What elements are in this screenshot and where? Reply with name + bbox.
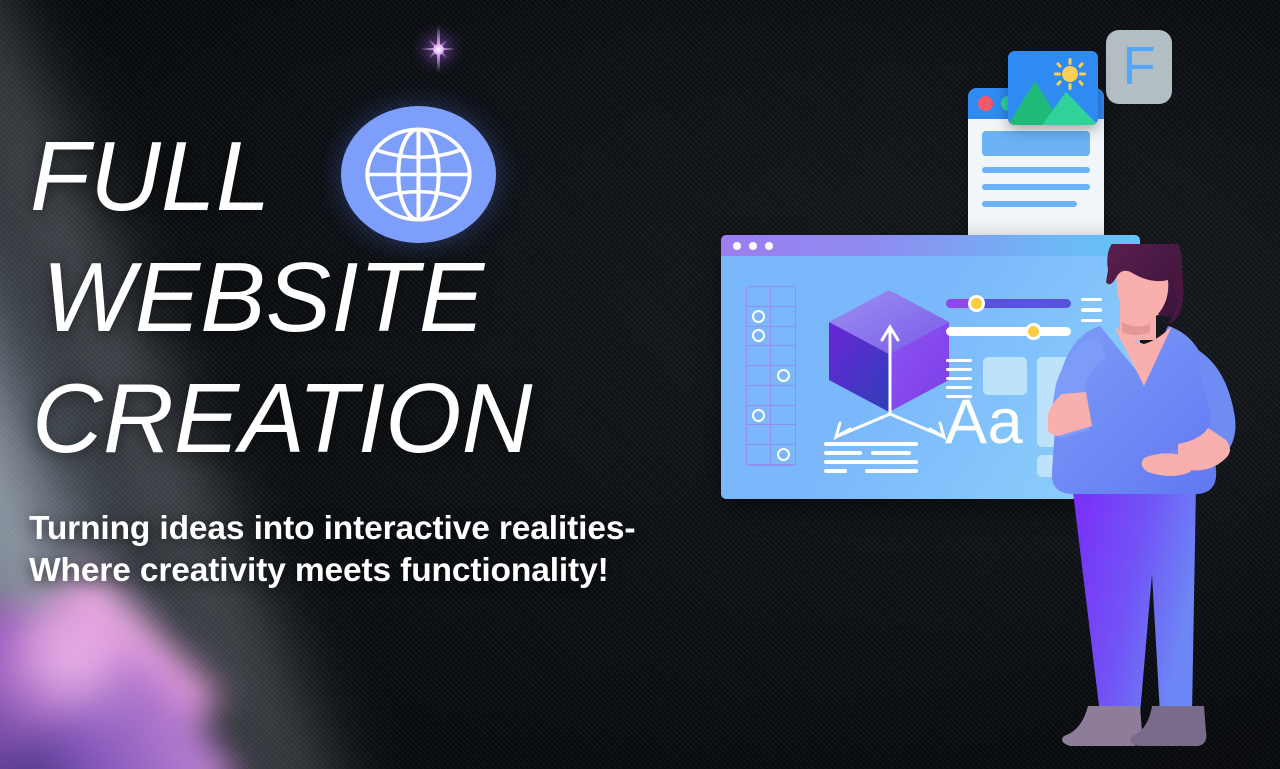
mini-text-line [946,368,972,371]
cube-text-lines [824,442,918,478]
grid-cell-active [771,445,795,465]
subtitle-text: Turning ideas into interactive realities… [29,508,729,592]
grid-cell [771,327,795,347]
globe-icon [341,106,496,243]
font-badge: F [1106,30,1172,104]
grid-cell-active [747,406,771,426]
grid-cell-active [771,366,795,386]
floating-card-cluster: F [962,30,1172,235]
card-text-line [982,167,1090,173]
headline-line-3: CREATION [28,370,728,467]
text-line-segment [865,469,918,473]
sparkle-star-icon [413,24,463,74]
grid-cell [747,425,771,445]
poster-canvas: FULL WEBSITE CREATION Turning ideas into… [0,0,1280,769]
card-text-line [982,184,1090,190]
grid-cell [747,366,771,386]
grid-cell-active [747,327,771,347]
text-line-segment [824,469,847,473]
slider-one-knob[interactable] [968,295,985,312]
presenter-illustration [1048,244,1280,769]
slider-two-knob[interactable] [1025,323,1042,340]
grid-cell [747,346,771,366]
grid-cell [771,307,795,327]
text-line-row [824,451,918,455]
sparkle-core [433,44,444,55]
text-line-segment [824,451,862,455]
font-badge-letter: F [1123,39,1156,93]
text-line-row [824,460,918,464]
grid-cell [771,386,795,406]
grid-cell [771,406,795,426]
headline-line-2: WEBSITE [28,249,728,346]
purple-crystal-decoration [0,585,242,769]
3d-axis-arrows-icon [825,306,955,440]
grid-cell [771,346,795,366]
text-line-segment [871,451,911,455]
text-line-row [824,442,918,446]
crystal-glow [0,595,156,725]
mini-text-line [946,377,972,380]
grid-cell [747,445,771,465]
text-line-row [824,469,918,473]
grid-cell [747,386,771,406]
browser-window-card-body [968,119,1104,207]
browser-dot-2-icon [749,242,757,250]
typography-sample: Aa [945,391,1023,454]
text-line-segment [824,460,918,464]
card-hero-block [982,131,1090,156]
image-placeholder-icon [1008,51,1098,125]
card-text-line [982,201,1077,207]
text-line-segment [824,442,918,446]
browser-dot-1-icon [733,242,741,250]
grid-cell-active [747,307,771,327]
grid-cell [771,287,795,307]
window-dot-red-icon [978,96,993,111]
grid-cell [747,287,771,307]
mini-text-line [946,359,972,362]
sidebar-grid [746,286,796,466]
browser-dot-3-icon [765,242,773,250]
grid-cell [771,425,795,445]
